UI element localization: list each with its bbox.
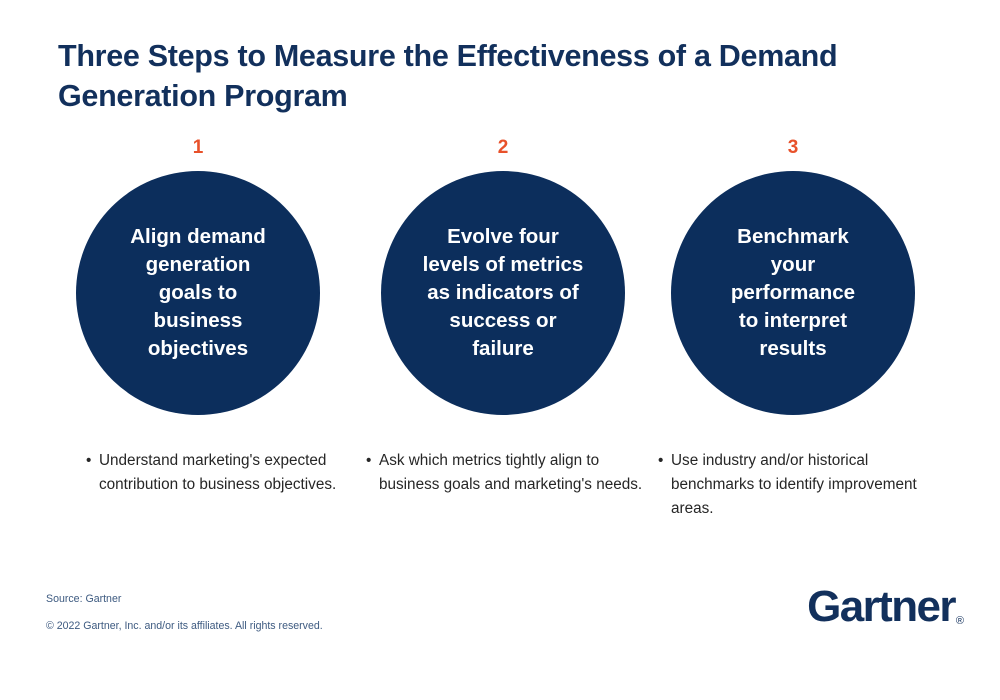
bullet-text-3: Use industry and/or historical benchmark…	[671, 452, 917, 517]
bullet-item-3: • Use industry and/or historical benchma…	[658, 449, 938, 521]
bullet-marker-icon: •	[86, 449, 91, 473]
bullet-item-1: • Understand marketing's expected contri…	[86, 449, 358, 497]
bullet-column-1: • Understand marketing's expected contri…	[38, 449, 358, 497]
bullet-column-2: • Ask which metrics tightly align to bus…	[358, 449, 648, 497]
step-circle-label-3: Benchmark your performance to interpret …	[731, 223, 855, 363]
bullets-row: • Understand marketing's expected contri…	[0, 449, 1000, 521]
bullet-column-3: • Use industry and/or historical benchma…	[648, 449, 938, 521]
step-circle-label-2: Evolve four levels of metrics as indicat…	[423, 223, 584, 363]
page-title: Three Steps to Measure the Effectiveness…	[58, 36, 878, 117]
step-circle-label-1: Align demand generation goals to busines…	[130, 223, 266, 363]
step-circle-2: Evolve four levels of metrics as indicat…	[381, 171, 625, 415]
step-circle-3: Benchmark your performance to interpret …	[671, 171, 915, 415]
source-attribution: Source: Gartner	[46, 593, 121, 606]
slide-canvas: Three Steps to Measure the Effectiveness…	[0, 0, 1000, 700]
step-column-3: 3 Benchmark your performance to interpre…	[648, 138, 938, 415]
gartner-logo: Gartner ®	[807, 585, 964, 629]
copyright-notice: © 2022 Gartner, Inc. and/or its affiliat…	[46, 620, 323, 633]
steps-row: 1 Align demand generation goals to busin…	[0, 138, 1000, 415]
bullet-text-2: Ask which metrics tightly align to busin…	[379, 452, 642, 493]
bullet-marker-icon: •	[366, 449, 371, 473]
bullet-text-1: Understand marketing's expected contribu…	[99, 452, 336, 493]
step-number-3: 3	[788, 138, 799, 160]
step-column-2: 2 Evolve four levels of metrics as indic…	[358, 138, 648, 415]
bullet-marker-icon: •	[658, 449, 663, 473]
step-number-1: 1	[193, 138, 204, 160]
gartner-logo-wordmark: Gartner	[807, 585, 955, 629]
step-circle-1: Align demand generation goals to busines…	[76, 171, 320, 415]
step-number-2: 2	[498, 138, 509, 160]
step-column-1: 1 Align demand generation goals to busin…	[38, 138, 358, 415]
registered-trademark-icon: ®	[956, 616, 964, 627]
bullet-item-2: • Ask which metrics tightly align to bus…	[366, 449, 648, 497]
